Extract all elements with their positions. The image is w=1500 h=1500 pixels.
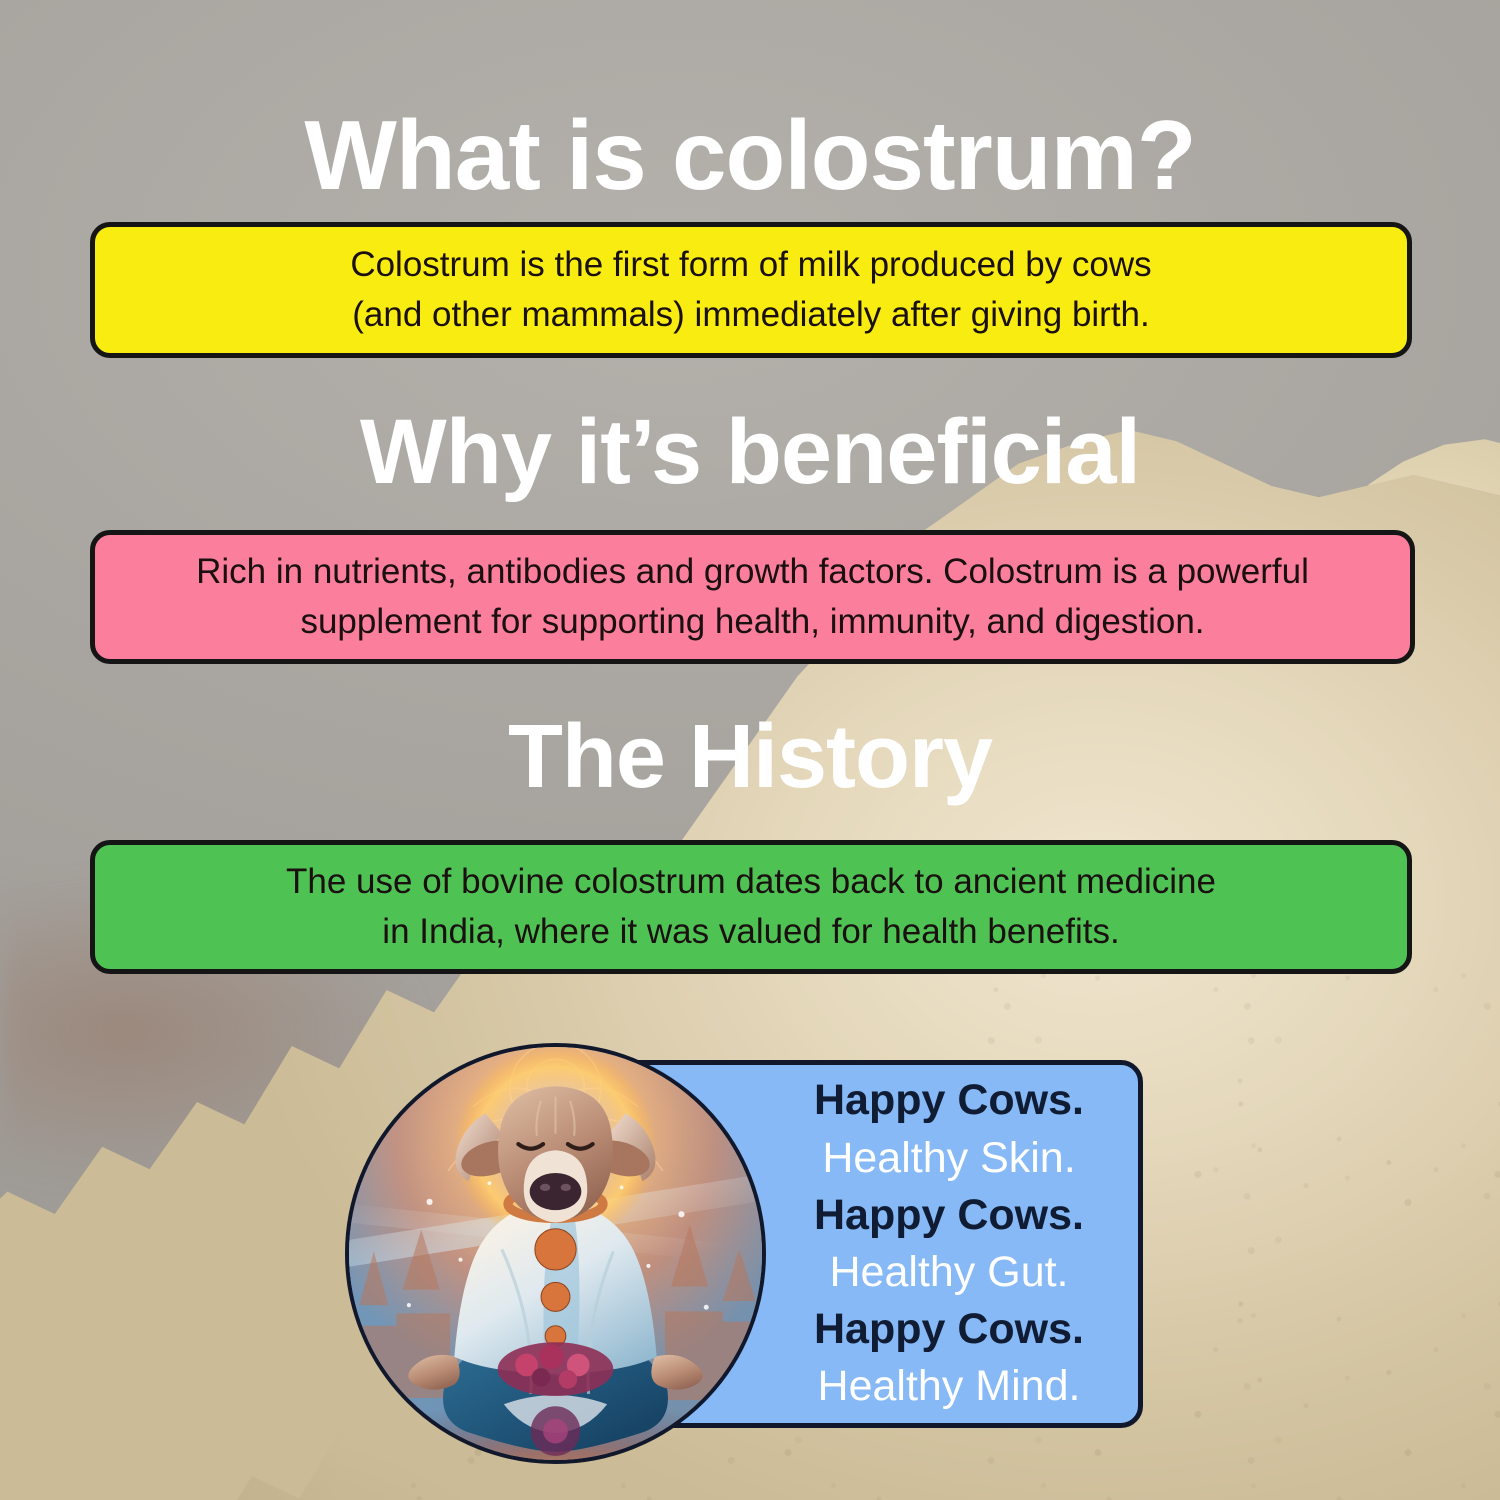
fact-card-line: Rich in nutrients, antibodies and growth… bbox=[196, 547, 1309, 597]
tagline-line: Healthy Mind. bbox=[760, 1358, 1138, 1415]
fact-card-why-beneficial: Rich in nutrients, antibodies and growth… bbox=[90, 530, 1415, 664]
tagline-line: Healthy Gut. bbox=[760, 1244, 1138, 1301]
infographic-canvas: What is colostrum? Colostrum is the firs… bbox=[0, 0, 1500, 1500]
tagline-line: Happy Cows. bbox=[760, 1301, 1138, 1358]
fact-card-line: The use of bovine colostrum dates back t… bbox=[286, 857, 1216, 907]
tagline-line: Happy Cows. bbox=[760, 1072, 1138, 1129]
fact-card-line: supplement for supporting health, immuni… bbox=[196, 597, 1309, 647]
fact-card-line: in India, where it was valued for health… bbox=[286, 907, 1216, 957]
fact-card-line: (and other mammals) immediately after gi… bbox=[350, 290, 1151, 340]
meditating-cow-icon bbox=[345, 1043, 766, 1464]
fact-card-what-is-colostrum: Colostrum is the first form of milk prod… bbox=[90, 222, 1412, 358]
tagline-line: Happy Cows. bbox=[760, 1187, 1138, 1244]
heading-why-its-beneficial: Why it’s beneficial bbox=[0, 406, 1500, 498]
fact-card-the-history: The use of bovine colostrum dates back t… bbox=[90, 840, 1412, 974]
heading-what-is-colostrum: What is colostrum? bbox=[0, 106, 1500, 204]
tagline-line: Healthy Skin. bbox=[760, 1130, 1138, 1187]
fact-card-line: Colostrum is the first form of milk prod… bbox=[350, 240, 1151, 290]
heading-the-history: The History bbox=[0, 712, 1500, 802]
